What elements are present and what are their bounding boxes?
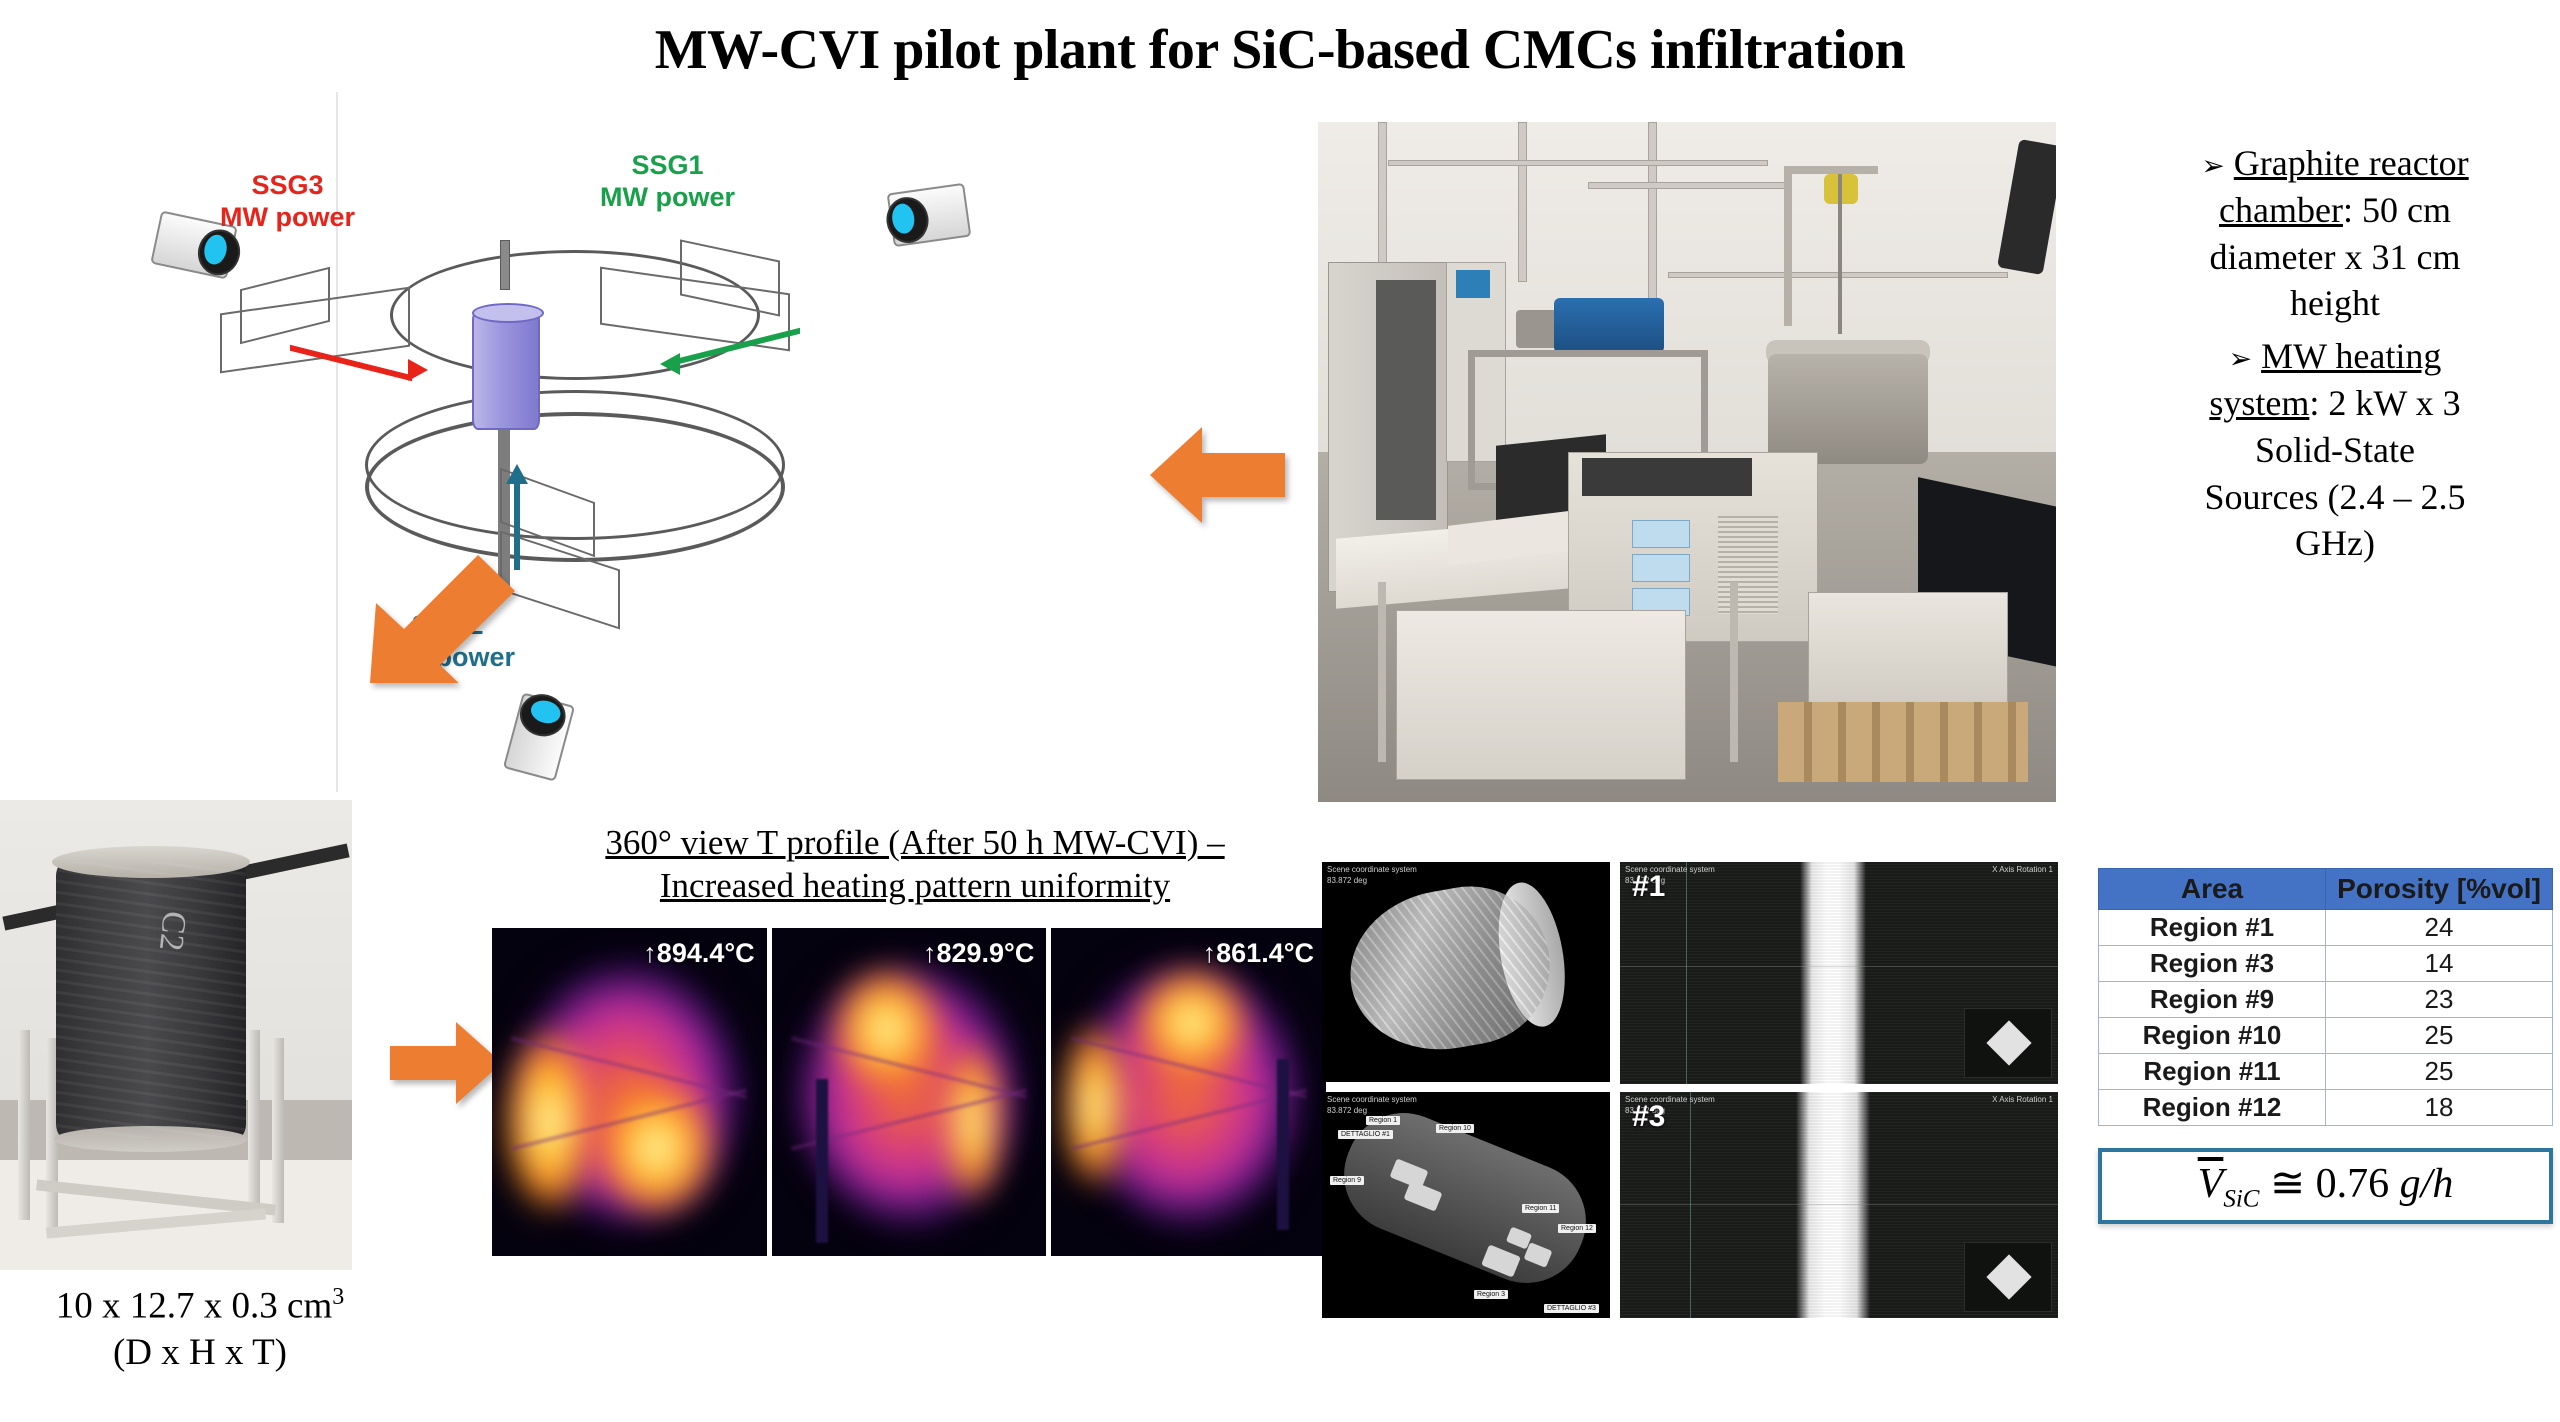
table-cell-area: Region #1 bbox=[2099, 910, 2326, 946]
table-cell-porosity: 18 bbox=[2326, 1090, 2553, 1126]
ct-region-tag-4: Region 9 bbox=[1330, 1176, 1364, 1185]
table-cell-porosity: 24 bbox=[2326, 910, 2553, 946]
specs-bullet-list: ➢ Graphite reactor chamber: 50 cm diamet… bbox=[2115, 140, 2555, 573]
table-row: Region #12 18 bbox=[2099, 1090, 2553, 1126]
ct-slice3-inset bbox=[1964, 1242, 2052, 1312]
table-row: Region #1 24 bbox=[2099, 910, 2553, 946]
table-cell-porosity: 25 bbox=[2326, 1018, 2553, 1054]
reactor-schematic-diagram: SSG3 MW power SSG1 MW power SSG2 MW powe… bbox=[200, 150, 1200, 800]
ct-3d-header-text: Scene coordinate system 83.872 deg bbox=[1327, 865, 1417, 887]
thermal-image-strip: ↑894.4°C ↑829.9°C ↑861.4°C bbox=[492, 928, 1326, 1256]
bullet-marker-icon-2: ➢ bbox=[2229, 342, 2252, 375]
bullet-1-line-2-term: chamber bbox=[2219, 190, 2343, 230]
table-cell-porosity: 14 bbox=[2326, 946, 2553, 982]
bullet-2-line-1: MW heating bbox=[2261, 336, 2441, 376]
ssg1-label: SSG1 MW power bbox=[600, 150, 735, 214]
bullet-1-line-2-rest: : 50 cm bbox=[2343, 190, 2451, 230]
thermal-panel-2: ↑829.9°C bbox=[772, 928, 1047, 1256]
schematic-crucible bbox=[472, 310, 540, 430]
formula-symbol: V bbox=[2198, 1161, 2224, 1207]
ct-slice1-inset bbox=[1964, 1008, 2052, 1078]
ct-slice1-corner-text: X Axis Rotation 1 bbox=[1992, 865, 2053, 874]
ct-slice-panel-1: Scene coordinate system 83.872 deg X Axi… bbox=[1620, 862, 2058, 1084]
schematic-rod bbox=[500, 240, 510, 290]
deposition-rate-box: VSiC ≅ 0.76 g/h bbox=[2098, 1148, 2553, 1224]
thermal-panel-3: ↑861.4°C bbox=[1051, 928, 1326, 1256]
table-cell-porosity: 23 bbox=[2326, 982, 2553, 1018]
ct-region-tag-5: Region 11 bbox=[1522, 1204, 1559, 1213]
bullet-2-line-3: Solid-State bbox=[2255, 430, 2415, 470]
table-cell-area: Region #9 bbox=[2099, 982, 2326, 1018]
formula-subscript: SiC bbox=[2223, 1186, 2259, 1213]
slide-root: MW-CVI pilot plant for SiC-based CMCs in… bbox=[0, 0, 2560, 1422]
porosity-table: Area Porosity [%vol] Region #1 24 Region… bbox=[2098, 868, 2553, 1126]
table-row: Region #10 25 bbox=[2099, 1018, 2553, 1054]
ct-3d-render-panel: Scene coordinate system 83.872 deg bbox=[1322, 862, 1610, 1082]
thermal-panel-1: ↑894.4°C bbox=[492, 928, 767, 1256]
table-cell-area: Region #3 bbox=[2099, 946, 2326, 982]
bullet-item-mw-heating: ➢ MW heating system: 2 kW x 3 Solid-Stat… bbox=[2115, 333, 2555, 567]
thermal-section-caption: 360° view T profile (After 50 h MW-CVI) … bbox=[500, 822, 1330, 907]
ct-region-header-text: Scene coordinate system 83.872 deg bbox=[1327, 1095, 1417, 1117]
thermal-temp-label-3: ↑861.4°C bbox=[1203, 938, 1314, 969]
ct-region-tag-8: DETTAGLIO #3 bbox=[1544, 1304, 1599, 1313]
deposition-rate-formula: VSiC ≅ 0.76 g/h bbox=[2198, 1158, 2454, 1213]
thermal-caption-line-2: Increased heating pattern uniformity bbox=[660, 866, 1170, 905]
ct-slice3-corner-text: X Axis Rotation 1 bbox=[1992, 1095, 2053, 1104]
table-cell-porosity: 25 bbox=[2326, 1054, 2553, 1090]
table-header-porosity: Porosity [%vol] bbox=[2326, 869, 2553, 910]
ssg3-label: SSG3 MW power bbox=[220, 170, 355, 234]
bullet-item-graphite-reactor: ➢ Graphite reactor chamber: 50 cm diamet… bbox=[2115, 140, 2555, 327]
page-title: MW-CVI pilot plant for SiC-based CMCs in… bbox=[0, 18, 2560, 82]
sample-marking: C2 bbox=[151, 909, 193, 952]
formula-value: 0.76 bbox=[2316, 1161, 2390, 1207]
bullet-2-line-2-rest: : 2 kW x 3 bbox=[2309, 383, 2460, 423]
table-cell-area: Region #10 bbox=[2099, 1018, 2326, 1054]
ct-slice-panel-3: Scene coordinate system 83.872 deg X Axi… bbox=[1620, 1092, 2058, 1318]
ct-region-map-panel: Scene coordinate system 83.872 deg Regio… bbox=[1322, 1092, 1610, 1318]
solid-state-generator-1-icon bbox=[887, 183, 972, 247]
ct-region-tag-2: DETTAGLIO #1 bbox=[1338, 1130, 1393, 1139]
bullet-2-line-4: Sources (2.4 – 2.5 bbox=[2205, 477, 2466, 517]
ct-region-tag-7: Region 3 bbox=[1474, 1290, 1508, 1299]
ct-slice-label-3: #3 bbox=[1632, 1100, 1665, 1134]
ct-region-tag-1: Region 1 bbox=[1366, 1116, 1400, 1125]
table-header-row: Area Porosity [%vol] bbox=[2099, 869, 2553, 910]
arrow-left-icon bbox=[1150, 425, 1285, 525]
arrow-diagonal-down-left-icon bbox=[370, 555, 515, 683]
table-cell-area: Region #12 bbox=[2099, 1090, 2326, 1126]
solid-state-generator-2-icon bbox=[503, 692, 575, 781]
ct-region-tag-3: Region 10 bbox=[1436, 1124, 1474, 1133]
thermal-caption-line-1: 360° view T profile (After 50 h MW-CVI) … bbox=[605, 823, 1224, 862]
pilot-plant-photo bbox=[1318, 122, 2056, 802]
table-row: Region #9 23 bbox=[2099, 982, 2553, 1018]
formula-unit: g/h bbox=[2400, 1161, 2454, 1207]
sample-dims-line-2: (D x H x T) bbox=[113, 1332, 287, 1373]
table-row: Region #11 25 bbox=[2099, 1054, 2553, 1090]
arrow-right-icon bbox=[390, 1020, 502, 1106]
ct-slice-label-1: #1 bbox=[1632, 870, 1665, 904]
formula-relation: ≅ bbox=[2270, 1161, 2305, 1207]
bullet-1-line-3: diameter x 31 cm bbox=[2210, 237, 2461, 277]
table-row: Region #3 14 bbox=[2099, 946, 2553, 982]
bullet-marker-icon: ➢ bbox=[2201, 149, 2224, 182]
table-cell-area: Region #11 bbox=[2099, 1054, 2326, 1090]
bullet-2-line-5: GHz) bbox=[2295, 523, 2375, 563]
thermal-temp-label-1: ↑894.4°C bbox=[643, 938, 754, 969]
bullet-1-line-1: Graphite reactor bbox=[2234, 143, 2469, 183]
cmc-sample-photo: C2 bbox=[0, 800, 352, 1270]
table-header-area: Area bbox=[2099, 869, 2326, 910]
thermal-temp-label-2: ↑829.9°C bbox=[923, 938, 1034, 969]
bullet-1-line-4: height bbox=[2290, 283, 2380, 323]
sample-dims-line-1: 10 x 12.7 x 0.3 cm bbox=[56, 1285, 332, 1326]
sample-dims-superscript: 3 bbox=[332, 1284, 344, 1310]
ct-region-tag-6: Region 12 bbox=[1558, 1224, 1596, 1233]
bullet-2-line-2-term: system bbox=[2209, 383, 2309, 423]
sample-dimensions-label: 10 x 12.7 x 0.3 cm3 (D x H x T) bbox=[0, 1282, 400, 1376]
